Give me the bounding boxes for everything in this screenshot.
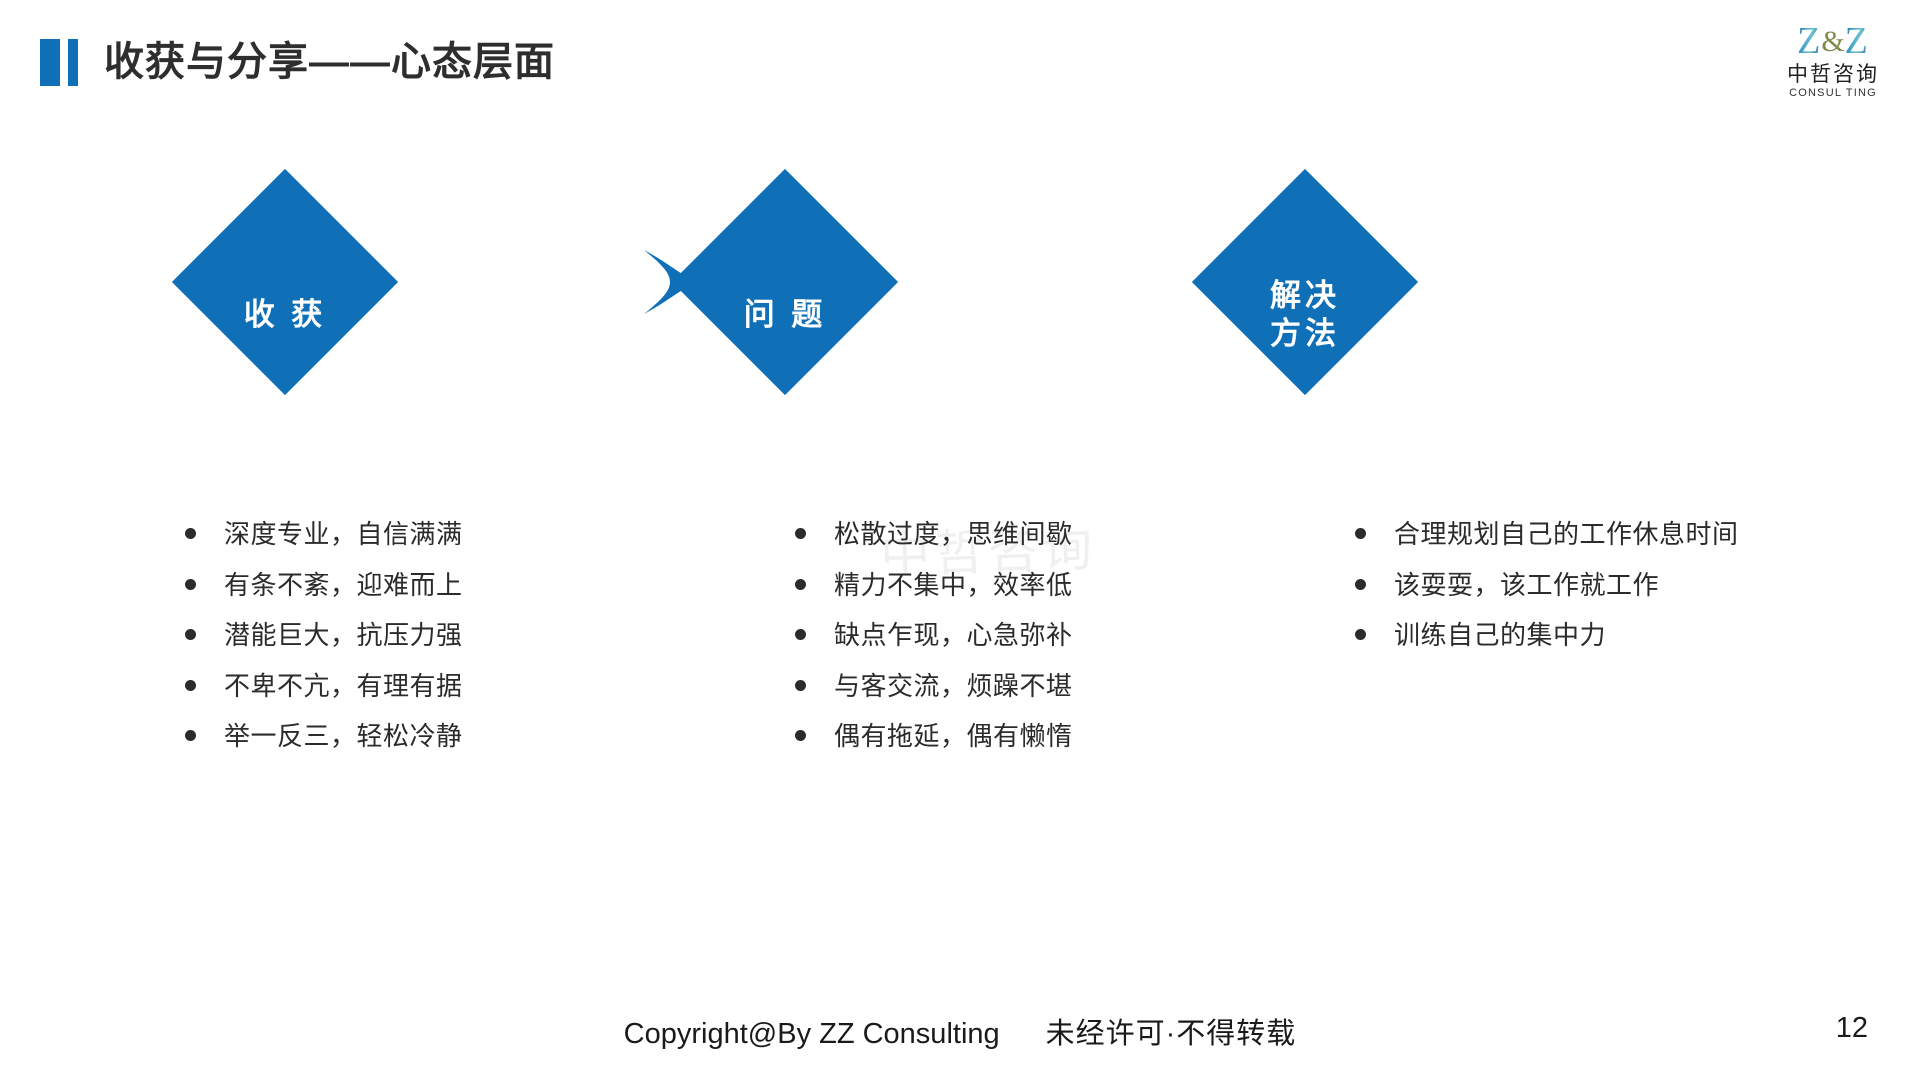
bullet-dot-icon: [795, 680, 806, 691]
list-item: 偶有拖延，偶有懒惰: [795, 722, 1073, 751]
bullet-text: 精力不集中，效率低: [834, 571, 1073, 600]
content-columns: 深度专业，自信满满 有条不紊，迎难而上 潜能巨大，抗压力强 不卑不亢，有理有据 …: [0, 520, 1920, 780]
slide-footer: Copyright@By ZZ Consulting未经许可·不得转载 12: [0, 1010, 1920, 1054]
footer-text-group: Copyright@By ZZ Consulting未经许可·不得转载: [0, 1010, 1920, 1052]
list-item: 深度专业，自信满满: [185, 520, 463, 549]
list-item: 缺点乍现，心急弥补: [795, 621, 1073, 650]
list-item: 松散过度，思维间歇: [795, 520, 1073, 549]
logo-english-name: CONSUL TING: [1768, 88, 1898, 99]
bullet-text: 合理规划自己的工作休息时间: [1394, 520, 1739, 549]
flow-node-shape-3: [1192, 169, 1418, 395]
bullet-text: 缺点乍现，心急弥补: [834, 621, 1073, 650]
list-item: 训练自己的集中力: [1355, 621, 1739, 650]
logo-letter-z-right: Z: [1845, 22, 1869, 60]
list-item: 举一反三，轻松冷静: [185, 722, 463, 751]
logo-chinese-name: 中哲咨询: [1768, 64, 1898, 85]
slide-header: 收获与分享——心态层面: [40, 34, 555, 90]
footer-copyright: Copyright@By ZZ Consulting: [624, 1018, 1000, 1050]
flow-diagram: 收 获 问 题 解决 方法: [0, 170, 1920, 395]
list-item: 不卑不亢，有理有据: [185, 672, 463, 701]
bullet-column-1: 深度专业，自信满满 有条不紊，迎难而上 潜能巨大，抗压力强 不卑不亢，有理有据 …: [185, 520, 463, 773]
bullet-text: 松散过度，思维间歇: [834, 520, 1073, 549]
bullet-text: 举一反三，轻松冷静: [224, 722, 463, 751]
logo-wordmark: Z&Z: [1768, 22, 1898, 60]
bullet-text: 有条不紊，迎难而上: [224, 571, 463, 600]
bullet-dot-icon: [185, 579, 196, 590]
list-item: 合理规划自己的工作休息时间: [1355, 520, 1739, 549]
flow-node-shape-1: [172, 169, 398, 395]
list-item: 与客交流，烦躁不堪: [795, 672, 1073, 701]
bullet-dot-icon: [1355, 629, 1366, 640]
bullet-dot-icon: [185, 680, 196, 691]
bullet-text: 潜能巨大，抗压力强: [224, 621, 463, 650]
bullet-dot-icon: [1355, 579, 1366, 590]
slide-canvas: 收获与分享——心态层面 Z&Z 中哲咨询 CONSUL TING 收 获 问 题…: [0, 0, 1920, 1080]
bullet-dot-icon: [185, 730, 196, 741]
page-title: 收获与分享——心态层面: [104, 42, 555, 82]
bullet-dot-icon: [795, 528, 806, 539]
bullet-dot-icon: [185, 629, 196, 640]
bullet-dot-icon: [795, 629, 806, 640]
list-item: 有条不紊，迎难而上: [185, 571, 463, 600]
bullet-text: 深度专业，自信满满: [224, 520, 463, 549]
bullet-dot-icon: [185, 528, 196, 539]
footer-notice: 未经许可·不得转载: [1046, 1018, 1297, 1050]
bullet-column-3: 合理规划自己的工作休息时间 该耍耍，该工作就工作 训练自己的集中力: [1355, 520, 1739, 672]
accent-bar-narrow: [68, 39, 78, 86]
title-accent-marker: [40, 38, 78, 86]
bullet-dot-icon: [1355, 528, 1366, 539]
logo-letter-z-left: Z: [1797, 22, 1821, 60]
list-item: 精力不集中，效率低: [795, 571, 1073, 600]
flow-node-shape-2: [672, 169, 898, 395]
bullet-text: 训练自己的集中力: [1394, 621, 1606, 650]
bullet-text: 不卑不亢，有理有据: [224, 672, 463, 701]
logo-ampersand-icon: &: [1821, 27, 1844, 57]
bullet-text: 偶有拖延，偶有懒惰: [834, 722, 1073, 751]
bullet-dot-icon: [795, 579, 806, 590]
list-item: 该耍耍，该工作就工作: [1355, 571, 1739, 600]
company-logo: Z&Z 中哲咨询 CONSUL TING: [1768, 22, 1898, 99]
bullet-text: 该耍耍，该工作就工作: [1394, 571, 1659, 600]
list-item: 潜能巨大，抗压力强: [185, 621, 463, 650]
page-number: 12: [1836, 1012, 1868, 1045]
bullet-column-2: 松散过度，思维间歇 精力不集中，效率低 缺点乍现，心急弥补 与客交流，烦躁不堪 …: [795, 520, 1073, 773]
accent-bar-wide: [40, 39, 60, 86]
bullet-dot-icon: [795, 730, 806, 741]
bullet-text: 与客交流，烦躁不堪: [834, 672, 1073, 701]
